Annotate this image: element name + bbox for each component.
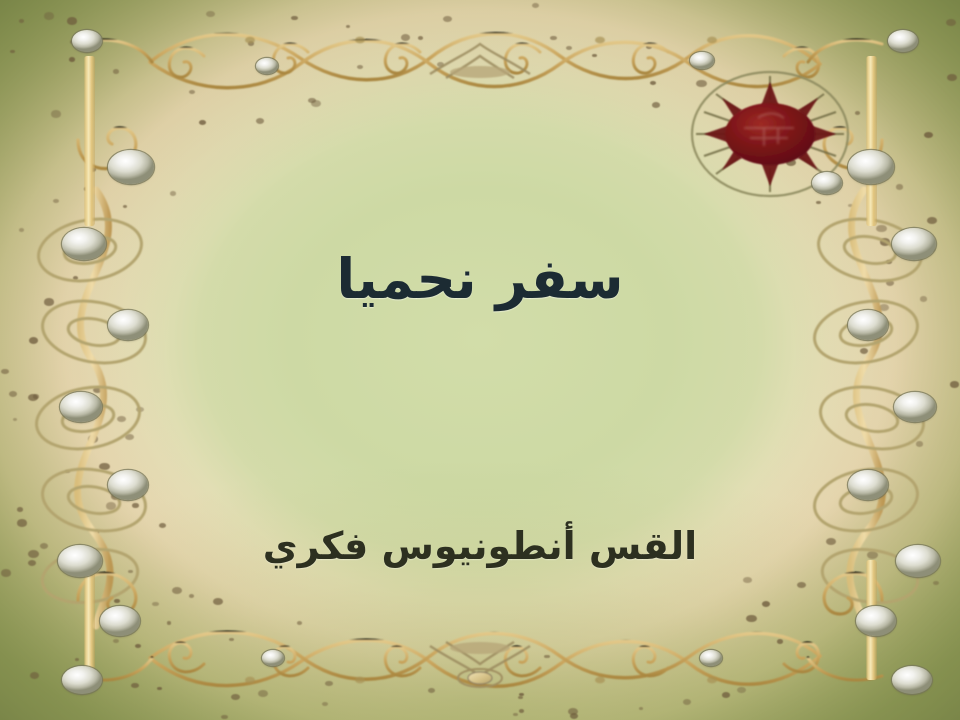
pearl-bead [108, 470, 148, 500]
pearl-bead [856, 606, 896, 636]
book-author: القس أنطونيوس فكري [0, 524, 960, 570]
pearl-bead [108, 310, 148, 340]
book-cover: سفر نحميا القس أنطونيوس فكري [0, 0, 960, 720]
book-title: سفر نحميا [0, 248, 960, 311]
pearl-bead [848, 470, 888, 500]
pearl-bead [894, 392, 936, 422]
gold-rod-right-top [866, 56, 877, 226]
ornamental-border-frame [0, 0, 960, 720]
pearl-bead [888, 30, 918, 52]
pearl-bead [262, 650, 284, 666]
pearl-bead [812, 172, 842, 194]
top-scroll-band [150, 34, 820, 88]
pearl-bead [848, 150, 894, 184]
gold-rod-left-bottom [84, 560, 95, 680]
pearl-bead [892, 666, 932, 694]
pearl-bead [700, 650, 722, 666]
pearl-bead [100, 606, 140, 636]
pearl-bead [60, 392, 102, 422]
pearl-bead [108, 150, 154, 184]
pearl-bead [690, 52, 714, 69]
pearl-bead [256, 58, 278, 74]
gold-rod-left-top [84, 56, 95, 226]
bottom-center-gem [458, 669, 502, 687]
pearl-bead [848, 310, 888, 340]
pearl-bead [72, 30, 102, 52]
pearl-bead [62, 666, 102, 694]
